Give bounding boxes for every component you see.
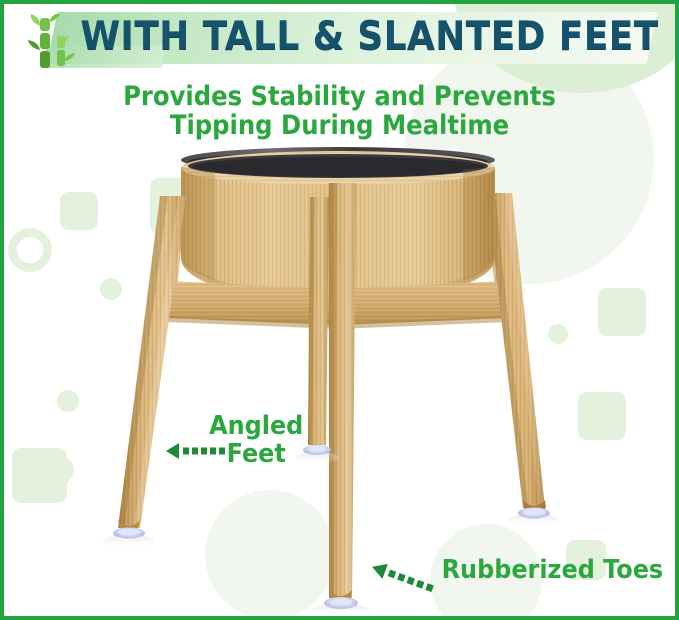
marketing-image-canvas: WITH TALL & SLANTED FEET Provides Stabil… (0, 0, 679, 620)
leg-front-center (329, 183, 356, 602)
subheading: Provides Stability and Prevents Tipping … (34, 82, 645, 140)
leg-front-right (487, 193, 546, 512)
annotation-rubberized-toes-line1: Rubberized Toes (442, 555, 664, 585)
subheading-line-1: Provides Stability and Prevents (34, 82, 645, 111)
annotation-angled-feet-line1: Angled (209, 412, 303, 440)
leg-front-left (118, 196, 186, 532)
leg-center-back (308, 197, 329, 445)
subheading-line-2: Tipping During Mealtime (34, 111, 645, 140)
dashed-arrow-down-left-icon (368, 558, 438, 598)
dashed-arrow-left-icon (166, 440, 226, 462)
page-title: WITH TALL & SLANTED FEET (27, 14, 652, 59)
annotation-rubberized-toes: Rubberized Toes (442, 555, 664, 585)
